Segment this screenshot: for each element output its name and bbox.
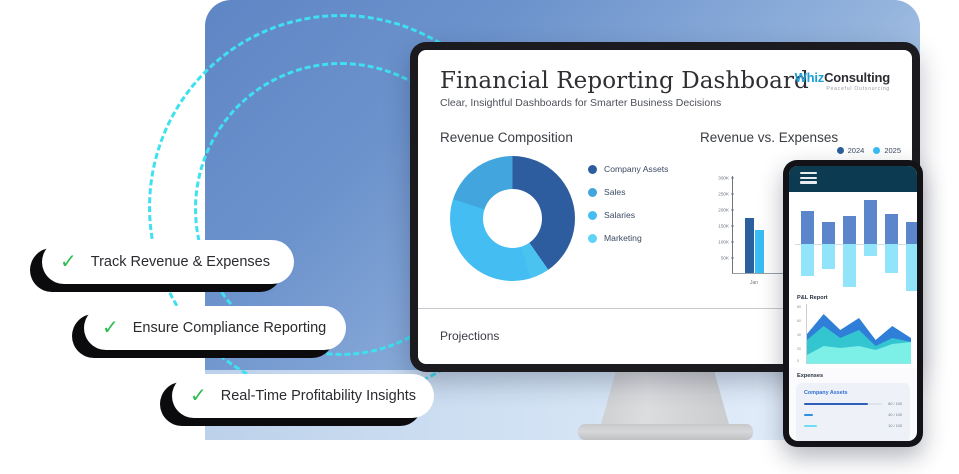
legend-label: Marketing — [604, 233, 642, 243]
bar-below — [843, 244, 856, 287]
legend-dot-2024 — [837, 147, 844, 154]
donut-chart-legend: Company Assets Sales Salaries Marketing — [588, 164, 668, 256]
company-assets-card-title: Company Assets — [804, 390, 902, 396]
progress-track — [804, 414, 882, 417]
hamburger-icon[interactable] — [800, 172, 817, 186]
projections-label: Projections — [440, 329, 499, 343]
progress-row: 10 / 100 — [804, 424, 902, 428]
bar-2025 — [755, 230, 764, 273]
bar-group — [885, 214, 898, 289]
bar-below — [864, 244, 877, 256]
feature-pill-track-revenue[interactable]: ✓ Track Revenue & Expenses — [30, 248, 282, 292]
bar-above — [843, 216, 856, 244]
legend-dot-sales — [588, 188, 597, 197]
bar-below — [801, 244, 814, 276]
legend-dot-salaries — [588, 211, 597, 220]
bar-group — [906, 222, 917, 289]
check-icon: ✓ — [102, 318, 119, 338]
legend-label: 2025 — [884, 146, 901, 155]
revenue-vs-expenses-panel: Revenue vs. Expenses 2024 2025 300K — [700, 130, 895, 145]
brand-logo-part1: Wh — [795, 70, 815, 85]
legend-item-2025: 2025 — [873, 146, 901, 155]
bar-below — [885, 244, 898, 273]
pill-body[interactable]: ✓ Real-Time Profitability Insights — [172, 374, 434, 418]
feature-pill-compliance-reporting[interactable]: ✓ Ensure Compliance Reporting — [72, 314, 334, 358]
pill-body[interactable]: ✓ Ensure Compliance Reporting — [84, 306, 346, 350]
bar-2024 — [745, 218, 754, 273]
pill-label: Track Revenue & Expenses — [91, 254, 270, 270]
legend-label: Salaries — [604, 210, 635, 220]
legend-item: Sales — [588, 187, 668, 197]
pill-body[interactable]: ✓ Track Revenue & Expenses — [42, 240, 294, 284]
mobile-screen: P&L Report 80 60 40 20 0 Expenses Compan… — [789, 166, 917, 441]
bar-below — [822, 244, 835, 269]
monitor-stand-neck — [600, 372, 730, 428]
progress-row: 80 / 100 — [804, 402, 902, 406]
bar-above — [885, 214, 898, 244]
progress-value: 80 / 100 — [888, 402, 902, 406]
y-tick: 50K — [721, 256, 729, 261]
bar-below — [906, 244, 917, 291]
legend-item: Company Assets — [588, 164, 668, 174]
bar-chart-y-axis: 300K 250K 200K 150K 100K 50K — [700, 174, 730, 292]
donut-chart-hole — [483, 189, 542, 248]
monitor-stand-base — [578, 424, 753, 440]
revenue-vs-expenses-title: Revenue vs. Expenses — [700, 130, 895, 145]
y-tick: 300K — [718, 176, 729, 181]
bar-group — [801, 211, 814, 289]
pl-report-title: P&L Report — [797, 295, 909, 301]
pl-report-card: P&L Report 80 60 40 20 0 — [789, 289, 917, 368]
y-tick: 80 — [797, 305, 801, 309]
progress-row: 40 / 100 — [804, 413, 902, 417]
legend-label: Sales — [604, 187, 626, 197]
legend-item-2024: 2024 — [837, 146, 865, 155]
progress-fill — [804, 425, 817, 428]
page-subtitle: Clear, Insightful Dashboards for Smarter… — [440, 97, 890, 109]
legend-dot-marketing — [588, 234, 597, 243]
progress-fill — [804, 414, 813, 417]
y-tick: 20 — [797, 347, 801, 351]
bar-above — [906, 222, 917, 244]
mobile-device: P&L Report 80 60 40 20 0 Expenses Compan… — [783, 160, 923, 447]
x-tick: Jan — [739, 280, 769, 286]
check-icon: ✓ — [190, 386, 207, 406]
feature-pill-profitability-insights[interactable]: ✓ Real-Time Profitability Insights — [160, 382, 422, 426]
y-tick: 200K — [718, 208, 729, 213]
bar-group — [864, 200, 877, 289]
legend-item: Marketing — [588, 233, 668, 243]
y-tick: 60 — [797, 319, 801, 323]
legend-label: 2024 — [848, 146, 865, 155]
progress-fill — [804, 403, 868, 406]
mobile-diverging-bar-chart — [789, 192, 917, 289]
bar-above — [822, 222, 835, 244]
y-tick: 40 — [797, 333, 801, 337]
pill-label: Ensure Compliance Reporting — [133, 320, 326, 336]
check-icon: ✓ — [60, 252, 77, 272]
progress-value: 10 / 100 — [888, 424, 902, 428]
pill-label: Real-Time Profitability Insights — [221, 388, 416, 404]
y-tick: 150K — [718, 224, 729, 229]
bar-group — [822, 222, 835, 289]
legend-label: Company Assets — [604, 164, 668, 174]
legend-dot-company-assets — [588, 165, 597, 174]
pl-report-area-chart: 80 60 40 20 0 — [797, 304, 909, 364]
mobile-app-bar — [789, 166, 917, 192]
brand-logo-text: WhizConsulting — [795, 70, 890, 85]
area-chart-svg — [807, 304, 911, 364]
legend-dot-2025 — [873, 147, 880, 154]
progress-value: 40 / 100 — [888, 413, 902, 417]
bar-above — [864, 200, 877, 244]
brand-logo-part2: iz — [814, 70, 824, 85]
bar-above — [801, 211, 814, 244]
bar-group — [843, 216, 856, 289]
brand-logo: WhizConsulting Peaceful Outsourcing — [795, 70, 890, 92]
donut-chart — [450, 156, 575, 281]
y-tick: 100K — [718, 240, 729, 245]
revenue-composition-panel: Revenue Composition Company Assets Sales — [440, 130, 690, 145]
legend-item: Salaries — [588, 210, 668, 220]
bar-group: Jan — [745, 218, 764, 273]
brand-logo-part3: Consulting — [824, 70, 890, 85]
progress-track — [804, 403, 882, 406]
company-assets-card[interactable]: Company Assets 80 / 100 40 / 100 10 / 10… — [796, 383, 910, 441]
progress-track — [804, 425, 882, 428]
y-tick: 250K — [718, 192, 729, 197]
expenses-title: Expenses — [789, 368, 917, 383]
bar-chart-legend: 2024 2025 — [837, 146, 901, 155]
y-tick: 0 — [797, 359, 799, 363]
brand-logo-tagline: Peaceful Outsourcing — [795, 86, 890, 92]
area-chart-y-axis — [806, 304, 807, 364]
revenue-composition-title: Revenue Composition — [440, 130, 690, 145]
